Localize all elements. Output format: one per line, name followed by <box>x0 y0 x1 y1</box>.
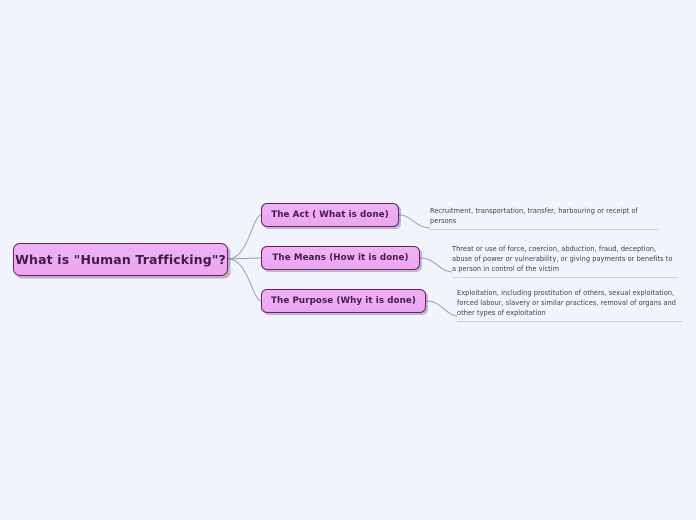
mindmap-canvas: What is "Human Trafficking"? The Act ( W… <box>0 0 696 520</box>
connector-root-to-purpose <box>228 259 261 301</box>
branch-detail-purpose[interactable]: Exploitation, including prostitution of … <box>457 288 683 322</box>
branch-detail-act[interactable]: Recruitment, transportation, transfer, h… <box>430 206 658 230</box>
connector-root-to-means <box>228 258 261 259</box>
branch-node-act[interactable]: The Act ( What is done) <box>261 203 399 227</box>
branch-detail-means[interactable]: Threat or use of force, coercion, abduct… <box>452 244 678 278</box>
connector-act-to-detail <box>399 215 430 228</box>
connector-purpose-to-detail <box>426 301 457 316</box>
connector-means-to-detail <box>420 258 452 272</box>
branch-node-means[interactable]: The Means (How it is done) <box>261 246 420 270</box>
branch-node-purpose[interactable]: The Purpose (Why it is done) <box>261 289 426 313</box>
connector-root-to-act <box>228 215 261 259</box>
root-node[interactable]: What is "Human Trafficking"? <box>13 243 228 276</box>
